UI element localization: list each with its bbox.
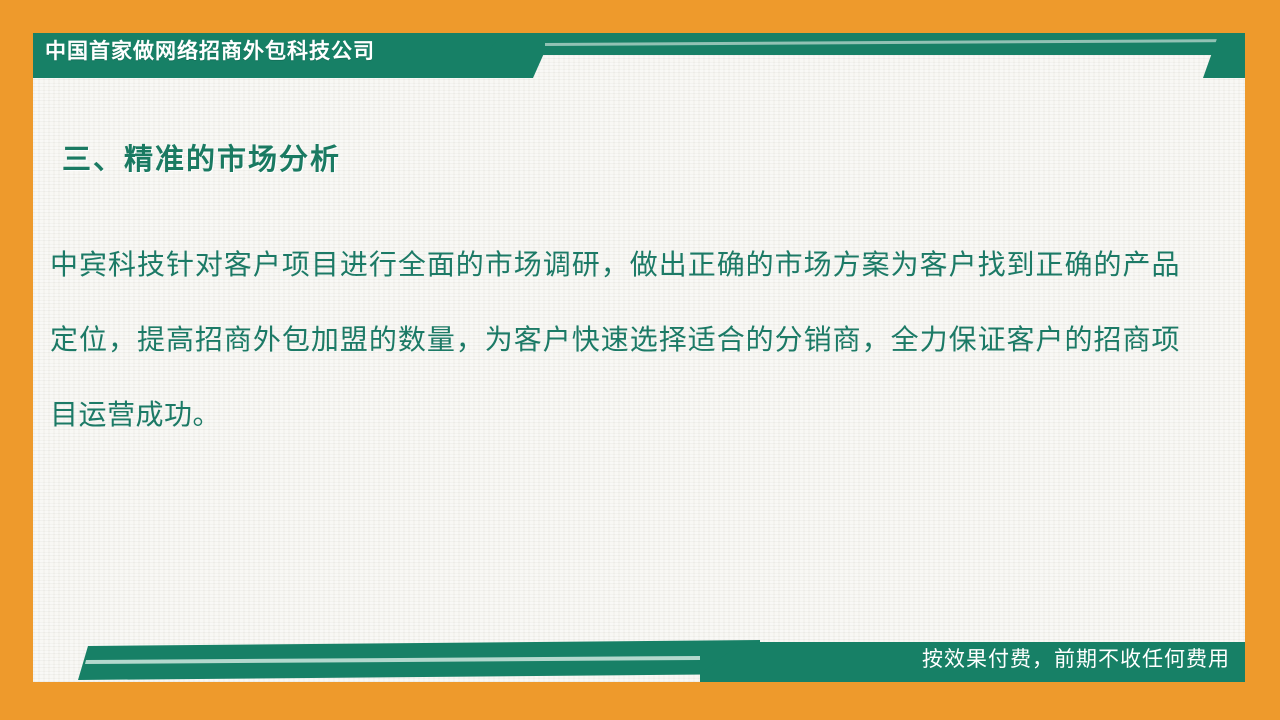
frame-edge-top [0,0,1280,33]
header-title: 中国首家做网络招商外包科技公司 [45,38,375,66]
body-paragraph-container: 中宾科技针对客户项目进行全面的市场调研，做出正确的市场方案为客户找到正确的产品定… [50,228,1180,453]
frame-edge-left [0,0,33,720]
frame-edge-right [1245,0,1280,720]
footer-tagline: 按效果付费，前期不收任何费用 [922,645,1230,675]
section-title: 三、精准的市场分析 [62,136,341,178]
slide-canvas: 中国首家做网络招商外包科技公司 三、精准的市场分析 中宾科技针对客户项目进行全面… [0,0,1280,720]
frame-edge-bottom [0,682,1280,720]
body-paragraph: 中宾科技针对客户项目进行全面的市场调研，做出正确的市场方案为客户找到正确的产品定… [50,228,1180,453]
